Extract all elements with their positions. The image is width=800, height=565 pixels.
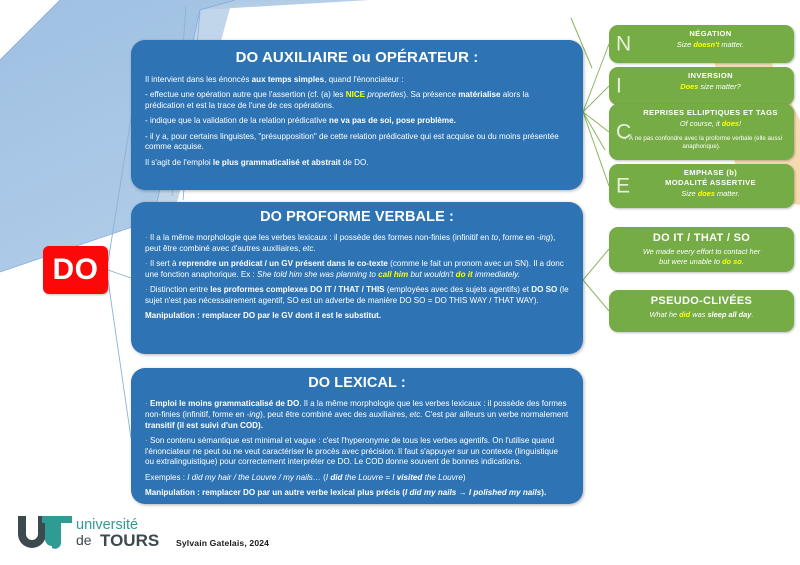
nice-box-negation: N NÉGATION Size doesn't matter. [609, 25, 794, 63]
proforme-box-pseudo-clivees-example: What he did was sleep all day. [619, 310, 784, 320]
box-do-auxiliaire-line-5: Il s'agit de l'emploi le plus grammatica… [145, 158, 569, 169]
nice-inversion-ex-hl: Does [680, 82, 698, 91]
nice-box-inversion-title: INVERSION [635, 71, 786, 81]
box-do-auxiliaire-line-3: - indique que la validation de la relati… [145, 116, 569, 127]
nice-box-inversion: I INVERSION Does size matter? [609, 67, 794, 105]
nice-box-inversion-body: INVERSION Does size matter? [609, 67, 794, 96]
proforme-box-pseudo-clivees-title: PSEUDO-CLIVÉES [619, 295, 784, 307]
nice-box-reprises: C REPRISES ELLIPTIQUES ET TAGS Of course… [609, 104, 794, 160]
nice-box-negation-example: Size doesn't matter. [635, 40, 786, 50]
box-do-auxiliaire-line-2: - effectue une opération autre que l'ass… [145, 90, 569, 112]
nice-box-emphase-title: EMPHASE (b) [635, 168, 786, 178]
nice-box-emphase-body: EMPHASE (b) MODALITÉ ASSERTIVE Size does… [609, 164, 794, 203]
pseudo-clivees-ex-bold: sleep all day [707, 310, 751, 319]
nice-box-negation-title: NÉGATION [635, 29, 786, 39]
box-do-auxiliaire-title: DO AUXILIAIRE ou OPÉRATEUR : [145, 49, 569, 66]
nice-inversion-ex-post: size matter? [698, 82, 740, 91]
nice-negation-ex-hl: doesn't [693, 40, 719, 49]
nice-box-negation-body: NÉGATION Size doesn't matter. [609, 25, 794, 54]
box-do-lexical-line-3: Exemples : I did my hair / the Louvre / … [145, 473, 569, 484]
box-do-auxiliaire-line-4: - il y a, pour certains linguistes, "pré… [145, 132, 569, 154]
logo-de-text: de [76, 532, 92, 548]
pseudo-clivees-ex-post: . [751, 310, 753, 319]
box-do-proforme-verbale-line-1: · Il a la même morphologie que les verbe… [145, 233, 569, 255]
nice-negation-ex-post: matter. [719, 40, 744, 49]
box-do-proforme-verbale-title: DO PROFORME VERBALE : [145, 209, 569, 225]
box-do-proforme-verbale-line-2: · Il sert à reprendre un prédicat / un G… [145, 259, 569, 281]
box-do-lexical-title: DO LEXICAL : [145, 375, 569, 391]
nice-box-inversion-example: Does size matter? [635, 82, 786, 92]
nice-box-reprises-example: Of course, it does! [635, 119, 786, 129]
proforme-box-pseudo-clivees: PSEUDO-CLIVÉES What he did was sleep all… [609, 290, 794, 332]
box-do-lexical-line-2: · Son contenu sémantique est minimal et … [145, 436, 569, 468]
proforme-box-do-it-that-so-example: We made every effort to contact her but … [619, 247, 784, 268]
central-do-label: DO [53, 253, 99, 287]
box-do-lexical: DO LEXICAL : · Emploi le moins grammatic… [131, 368, 583, 504]
box-do-proforme-verbale-line-3: · Distinction entre les proformes comple… [145, 285, 569, 307]
nice-emphase-ex-hl: does [698, 189, 715, 198]
nice-emphase-ex-pre: Size [681, 189, 697, 198]
nice-box-reprises-note: → À ne pas confondre avec la proforme ve… [609, 135, 794, 154]
nice-reprises-ex-pre: Of course, it [680, 119, 722, 128]
nice-box-emphase: E EMPHASE (b) MODALITÉ ASSERTIVE Size do… [609, 164, 794, 208]
pseudo-clivees-ex-mid: was [690, 310, 707, 319]
box-do-proforme-verbale: DO PROFORME VERBALE : · Il a la même mor… [131, 202, 583, 354]
box-do-lexical-line-1: · Emploi le moins grammaticalisé de DO. … [145, 399, 569, 431]
pseudo-clivees-ex-hl: did [679, 310, 690, 319]
proforme-box-do-it-that-so-title: DO IT / THAT / SO [619, 232, 784, 244]
green-connector-lines-lower [583, 249, 609, 311]
box-do-auxiliaire-line-1: Il intervient dans les énoncés aux temps… [145, 75, 569, 86]
proforme-box-do-it-that-so: DO IT / THAT / SO We made every effort t… [609, 227, 794, 272]
nice-negation-ex-pre: Size [677, 40, 693, 49]
slide-canvas: DO DO AUXILIAIRE ou OPÉRATEUR : Il inter… [0, 0, 800, 565]
proforme-do-so-ex-post: . [742, 257, 744, 266]
proforme-do-so-ex-hl: do so [722, 257, 742, 266]
box-do-proforme-verbale-manipulation: Manipulation : remplacer DO par le GV do… [145, 311, 569, 322]
pseudo-clivees-ex-pre: What he [650, 310, 680, 319]
nice-box-reprises-body: REPRISES ELLIPTIQUES ET TAGS Of course, … [609, 104, 794, 133]
logo-tours-text: TOURS [100, 531, 159, 550]
universite-de-tours-logo: université de TOURS [14, 512, 174, 554]
nice-box-emphase-title2: MODALITÉ ASSERTIVE [635, 178, 786, 188]
box-do-lexical-manipulation: Manipulation : remplacer DO par un autre… [145, 488, 569, 499]
nice-box-emphase-example: Size does matter. [635, 189, 786, 199]
nice-reprises-ex-post: ! [739, 119, 741, 128]
author-credit: Sylvain Gatelais, 2024 [176, 538, 269, 548]
box-do-auxiliaire: DO AUXILIAIRE ou OPÉRATEUR : Il intervie… [131, 40, 583, 190]
nice-reprises-ex-hl: does [722, 119, 739, 128]
proforme-do-so-ex-line1: We made every effort to contact her [643, 247, 760, 256]
nice-box-reprises-title: REPRISES ELLIPTIQUES ET TAGS [635, 108, 786, 118]
nice-emphase-ex-post: matter. [715, 189, 740, 198]
logo-mark-icon [18, 516, 72, 549]
proforme-do-so-ex-pre: but were unable to [659, 257, 722, 266]
central-do-badge: DO [43, 246, 108, 294]
